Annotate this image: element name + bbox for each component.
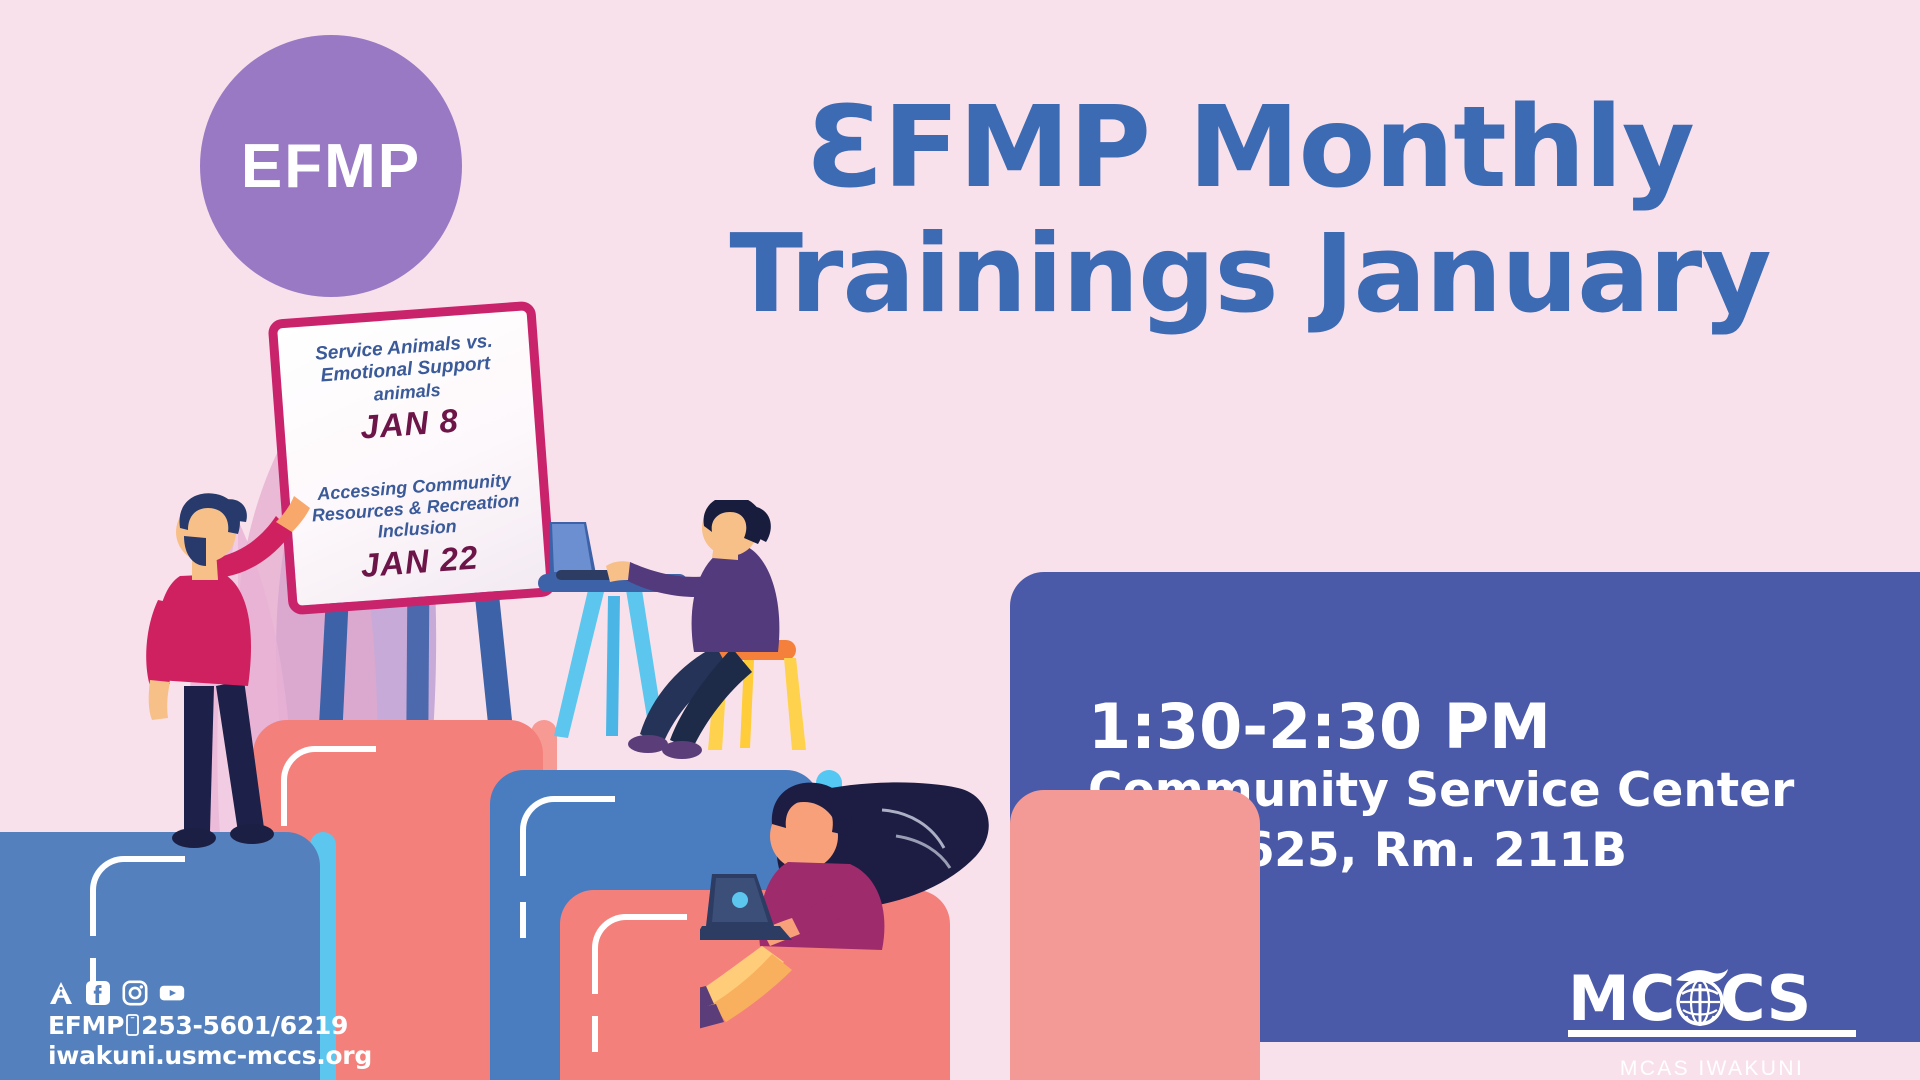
contact-phone-line: EFMP253-5601/6219 [48,1011,372,1041]
facebook-icon[interactable] [85,980,111,1006]
social-icon-row [48,980,372,1006]
title-line-1: ƐFMP Monthly [600,85,1900,213]
mccs-a-icon[interactable] [48,980,74,1006]
page-title: ƐFMP Monthly Trainings January [600,85,1900,336]
contact-phone-number: 253-5601/6219 [141,1011,348,1040]
figure-man-pointing [88,480,328,870]
mccs-letters-before: MC [1568,962,1675,1035]
mobile-phone-icon [126,1014,139,1036]
youtube-icon[interactable] [159,980,185,1006]
mccs-logo-subtitle: MCAS IWAKUNI [1562,1057,1862,1080]
mccs-wordmark: MC CS [1562,962,1862,1048]
efmp-badge: EFMP [200,35,462,297]
step-coral-right [1010,790,1260,1080]
event-time: 1:30-2:30 PM [1088,692,1920,761]
title-line-2: Trainings January [600,213,1900,336]
mccs-logo: MC CS MCAS IWAKUNI [1562,962,1862,1080]
figure-woman-laptop [700,740,1020,1040]
contact-block: EFMP253-5601/6219 iwakuni.usmc-mccs.org [48,980,372,1070]
instagram-icon[interactable] [122,980,148,1006]
mccs-letters-after: CS [1720,962,1811,1035]
poster-canvas: EFMP ƐFMP Monthly Trainings January [0,0,1920,1080]
contact-website[interactable]: iwakuni.usmc-mccs.org [48,1041,372,1071]
contact-phone-label: EFMP [48,1011,124,1040]
efmp-badge-label: EFMP [241,131,421,202]
